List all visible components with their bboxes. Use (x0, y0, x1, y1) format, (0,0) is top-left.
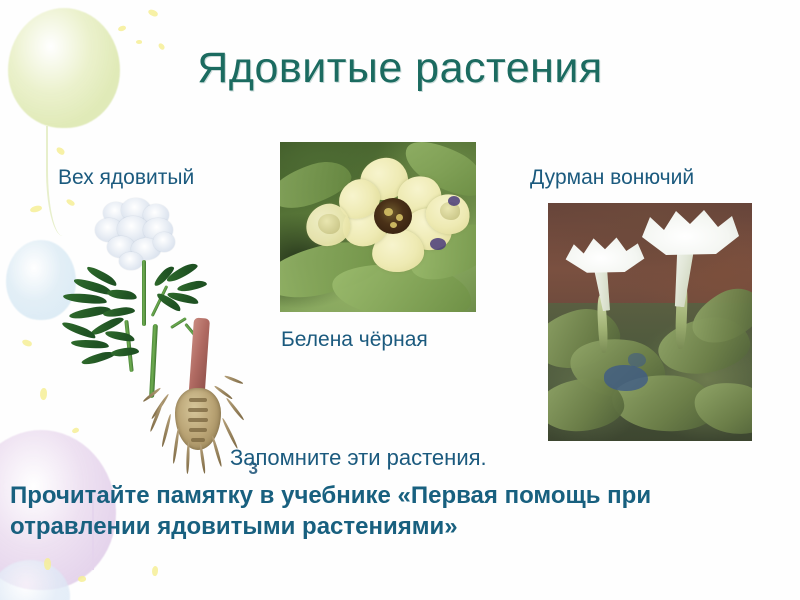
call-to-action-line-2: отравлении ядовитыми растениями» (10, 512, 788, 543)
plant-label-henbane: Белена чёрная (281, 328, 428, 352)
call-to-action-line-1: Прочитайте памятку в учебнике «Первая по… (10, 481, 788, 512)
plant-image-datura (548, 203, 752, 441)
confetti-fleck-icon (39, 388, 48, 401)
confetti-fleck-icon (151, 566, 159, 577)
confetti-fleck-icon (117, 25, 126, 33)
page-title: Ядовитые растения (0, 46, 800, 91)
slide-canvas: Ядовитые растения Вех ядовитый Дурман во… (0, 0, 800, 600)
confetti-fleck-icon (44, 558, 52, 570)
plant-label-datura: Дурман вонючий (530, 166, 694, 190)
confetti-fleck-icon (77, 575, 86, 583)
footer-note: Запомните эти растения. (230, 445, 487, 471)
plant-label-cicuta: Вех ядовитый (58, 166, 194, 190)
confetti-fleck-icon (147, 9, 158, 18)
confetti-fleck-icon (136, 40, 143, 45)
confetti-fleck-icon (55, 146, 66, 156)
footer-call-to-action: Прочитайте памятку в учебнике «Первая по… (10, 481, 788, 542)
plant-image-cicuta: 3 (55, 198, 250, 473)
plant-image-henbane (280, 142, 476, 312)
confetti-fleck-icon (21, 339, 32, 347)
confetti-fleck-icon (29, 204, 42, 213)
balloon-blue-small-icon (0, 560, 70, 600)
